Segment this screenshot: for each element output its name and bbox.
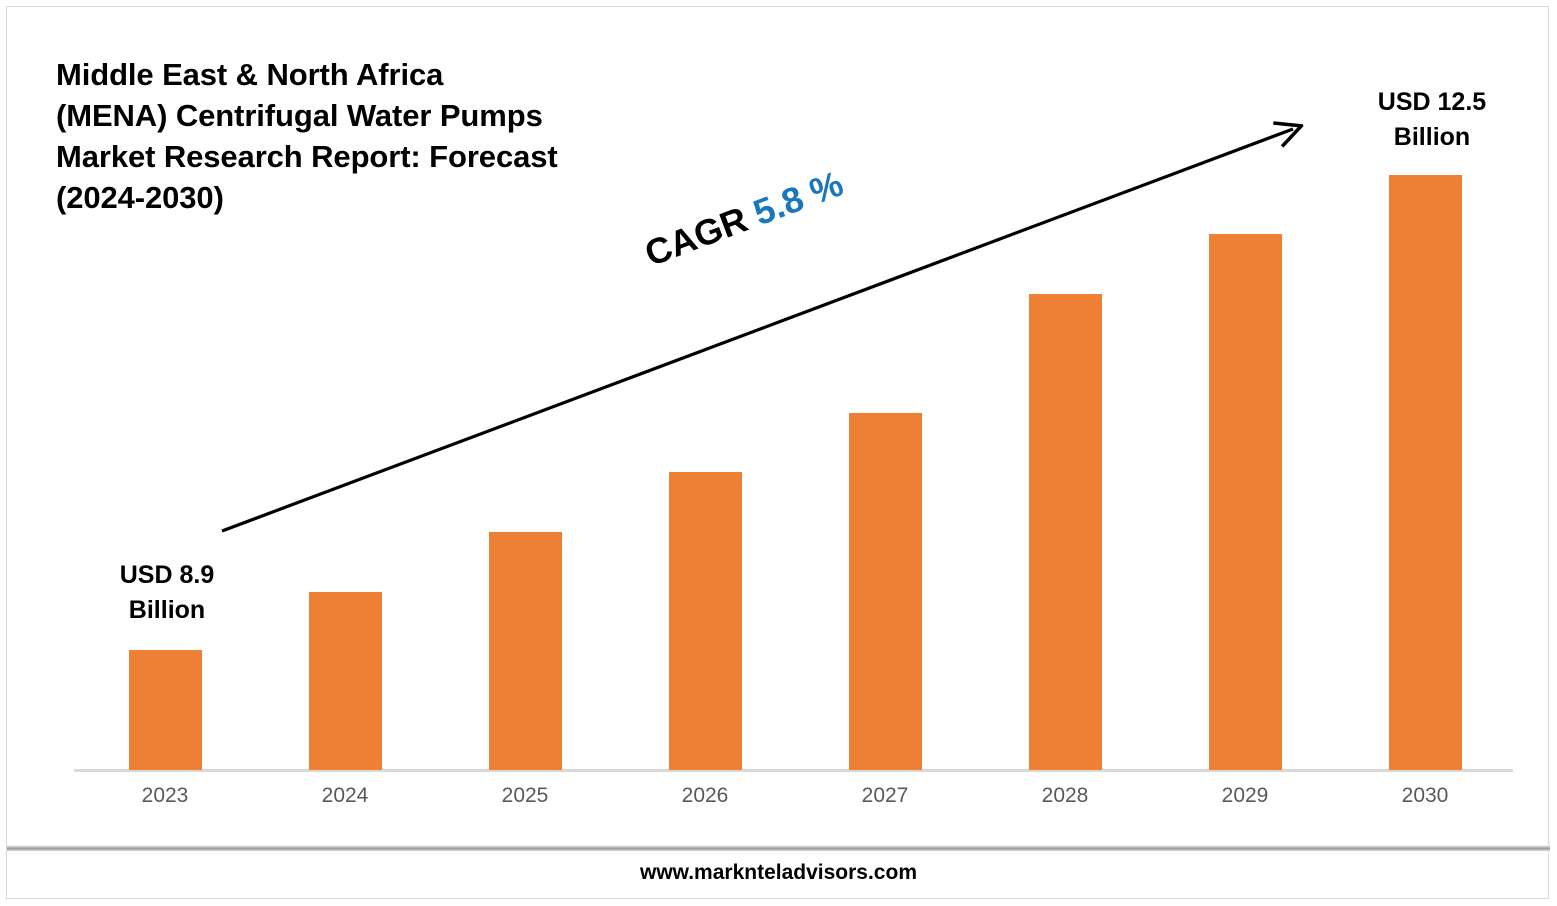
- bar-2027: [849, 413, 922, 770]
- bar-2024: [309, 592, 382, 770]
- x-axis-tick-2029: 2029: [1165, 784, 1325, 808]
- cagr-label-text: CAGR: [639, 195, 762, 274]
- bar-2026: [669, 472, 742, 770]
- bar-2023: [129, 650, 202, 770]
- x-axis-tick-2025: 2025: [445, 784, 605, 808]
- x-axis-line: [74, 769, 1513, 772]
- bar-2025: [489, 532, 562, 770]
- end-value-callout: USD 12.5 Billion: [1337, 85, 1527, 154]
- footer-website: www.marknteladvisors.com: [0, 861, 1557, 885]
- bar-2029: [1209, 234, 1282, 770]
- bar-chart-plot-area: 2023 2024 2025 2026 2027 2028 2029 2030 …: [0, 0, 1557, 906]
- x-axis-tick-2024: 2024: [265, 784, 425, 808]
- bar-2030: [1389, 175, 1462, 770]
- start-value-callout: USD 8.9 Billion: [82, 558, 252, 627]
- bar-2028: [1029, 294, 1102, 770]
- x-axis-tick-2023: 2023: [85, 784, 245, 808]
- x-axis-tick-2026: 2026: [625, 784, 785, 808]
- cagr-annotation: CAGR 5.8 %: [639, 162, 849, 275]
- x-axis-tick-2028: 2028: [985, 784, 1145, 808]
- cagr-value-text: 5.8 %: [748, 162, 849, 233]
- x-axis-tick-2030: 2030: [1345, 784, 1505, 808]
- chart-image: Middle East & North Africa (MENA) Centri…: [0, 0, 1557, 906]
- x-axis-tick-2027: 2027: [805, 784, 965, 808]
- footer-divider: [7, 845, 1550, 851]
